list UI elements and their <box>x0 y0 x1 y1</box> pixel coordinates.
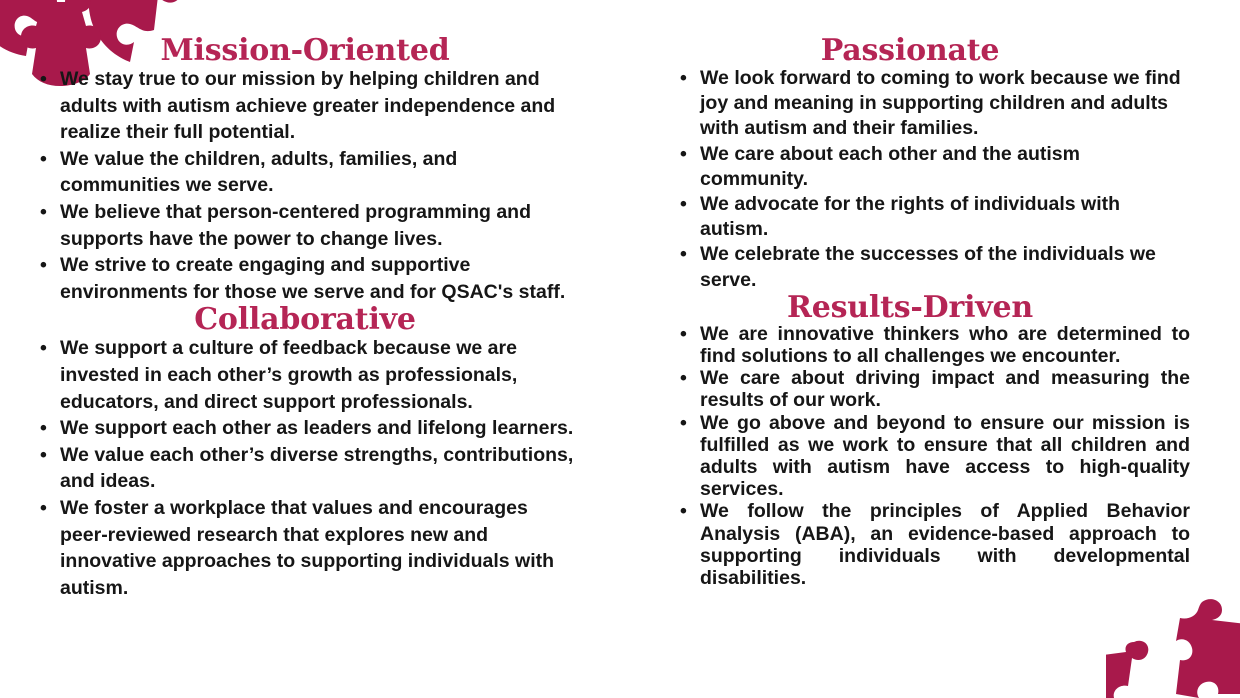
list-item: We value each other’s diverse strengths,… <box>38 442 580 495</box>
list-item: We are innovative thinkers who are deter… <box>678 323 1190 367</box>
list-item: We foster a workplace that values and en… <box>38 495 580 601</box>
list-item: We care about each other and the autism … <box>678 142 1190 192</box>
list-item: We support a culture of feedback because… <box>38 335 580 415</box>
list-item: We celebrate the successes of the indivi… <box>678 242 1190 292</box>
section-heading-collaborative: Collaborative <box>0 305 580 335</box>
slide-canvas: Mission-Oriented We stay true to our mis… <box>0 0 1240 698</box>
list-item: We strive to create engaging and support… <box>38 252 580 305</box>
section-heading-passionate: Passionate <box>640 0 1190 66</box>
list-item: We value the children, adults, families,… <box>38 146 580 199</box>
content-columns: Mission-Oriented We stay true to our mis… <box>0 0 1240 698</box>
section-heading-results-driven: Results-Driven <box>640 293 1190 323</box>
values-list-collaborative: We support a culture of feedback because… <box>0 335 580 601</box>
right-column: Passionate We look forward to coming to … <box>620 0 1240 698</box>
left-column: Mission-Oriented We stay true to our mis… <box>0 0 620 698</box>
list-item: We look forward to coming to work becaus… <box>678 66 1190 142</box>
list-item: We support each other as leaders and lif… <box>38 415 580 442</box>
list-item: We follow the principles of Applied Beha… <box>678 500 1190 589</box>
list-item: We advocate for the rights of individual… <box>678 192 1190 242</box>
section-heading-mission-oriented: Mission-Oriented <box>0 0 580 66</box>
list-item: We go above and beyond to ensure our mis… <box>678 412 1190 501</box>
values-list-mission-oriented: We stay true to our mission by helping c… <box>0 66 580 305</box>
list-item: We care about driving impact and measuri… <box>678 367 1190 411</box>
list-item: We stay true to our mission by helping c… <box>38 66 580 146</box>
list-item: We believe that person-centered programm… <box>38 199 580 252</box>
values-list-passionate: We look forward to coming to work becaus… <box>640 66 1190 293</box>
values-list-results-driven: We are innovative thinkers who are deter… <box>640 323 1190 589</box>
